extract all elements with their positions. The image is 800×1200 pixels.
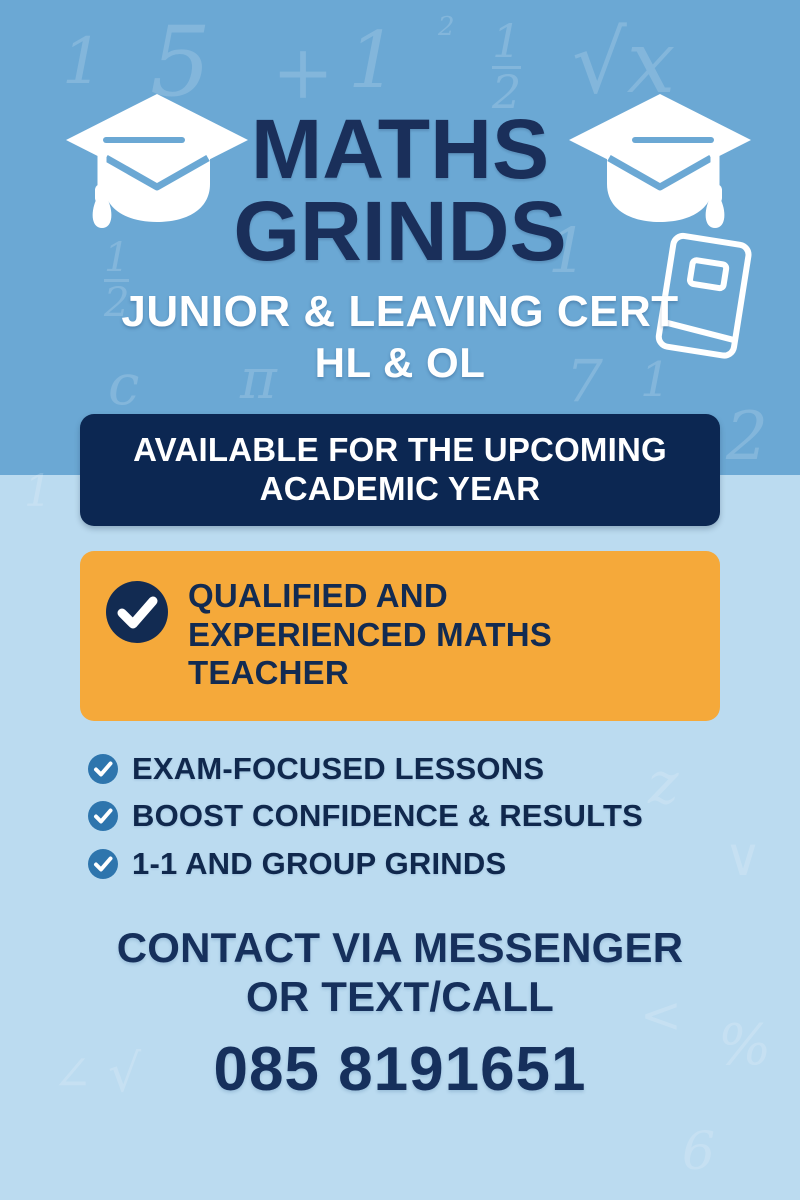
availability-banner: AVAILABLE FOR THE UPCOMING ACADEMIC YEAR — [80, 414, 720, 526]
math-doodle: 1 — [24, 470, 52, 514]
list-item: BOOST CONFIDENCE & RESULTS — [88, 799, 728, 832]
subtitle-levels: JUNIOR & LEAVING CERT — [0, 289, 800, 335]
qualification-line-2: EXPERIENCED MATHS — [188, 616, 700, 655]
qualification-highlight-box: QUALIFIED AND EXPERIENCED MATHS TEACHER — [80, 551, 720, 721]
math-doodle: 1 — [62, 30, 103, 94]
list-item: EXAM-FOCUSED LESSONS — [88, 752, 728, 785]
math-doodle: 2 — [726, 404, 768, 470]
contact-line-2: OR TEXT/CALL — [0, 973, 800, 1022]
math-doodle: + — [272, 36, 334, 110]
qualification-text: QUALIFIED AND EXPERIENCED MATHS TEACHER — [188, 573, 700, 693]
list-item-label: BOOST CONFIDENCE & RESULTS — [132, 799, 643, 832]
list-item-label: 1-1 AND GROUP GRINDS — [132, 847, 506, 880]
availability-banner-line-2: ACADEMIC YEAR — [260, 470, 541, 509]
check-circle-icon — [88, 754, 118, 784]
title-line-maths: MATHS — [0, 108, 800, 190]
list-item-label: EXAM-FOCUSED LESSONS — [132, 752, 544, 785]
feature-list: EXAM-FOCUSED LESSONS BOOST CONFIDENCE & … — [88, 752, 728, 894]
qualification-line-3: TEACHER — [188, 654, 700, 693]
math-doodle: 2 — [438, 14, 455, 40]
qualification-line-1: QUALIFIED AND — [188, 577, 700, 616]
check-circle-icon — [106, 581, 168, 643]
check-circle-icon — [88, 849, 118, 879]
subtitle-hl-ol: HL & OL — [0, 341, 800, 385]
title-line-grinds: GRINDS — [0, 190, 800, 272]
math-doodle-fraction: 12 — [492, 18, 521, 114]
math-doodle: ∨ — [724, 832, 762, 884]
phone-number[interactable]: 085 8191651 — [0, 1037, 800, 1102]
availability-banner-line-1: AVAILABLE FOR THE UPCOMING — [133, 431, 667, 470]
math-doodle: 1 — [348, 22, 398, 100]
check-circle-icon — [88, 801, 118, 831]
list-item: 1-1 AND GROUP GRINDS — [88, 847, 728, 880]
contact-line-1: CONTACT VIA MESSENGER — [0, 924, 800, 973]
poster-canvas: 15+12√x12cπ71z∨<%6∠√11212 — [0, 0, 800, 1200]
contact-block: CONTACT VIA MESSENGER OR TEXT/CALL 085 8… — [0, 924, 800, 1103]
poster-title-block: MATHS GRINDS JUNIOR & LEAVING CERT HL & … — [0, 108, 800, 385]
math-doodle: 6 — [682, 1126, 715, 1178]
